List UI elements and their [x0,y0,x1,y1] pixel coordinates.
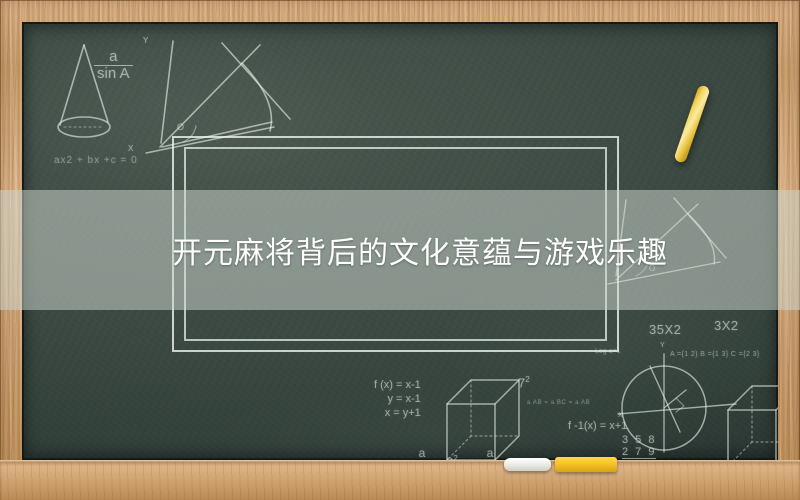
white-chalk-piece [504,458,551,471]
yellow-eraser-piece [555,457,617,472]
frame-inner-shadow [0,0,800,500]
chalkboard-poster: a sin A Y X O ax2 + bx +c = 0 O f (x) = … [0,0,800,500]
chalk-ledge [0,460,800,500]
ledge-highlight [0,460,800,463]
